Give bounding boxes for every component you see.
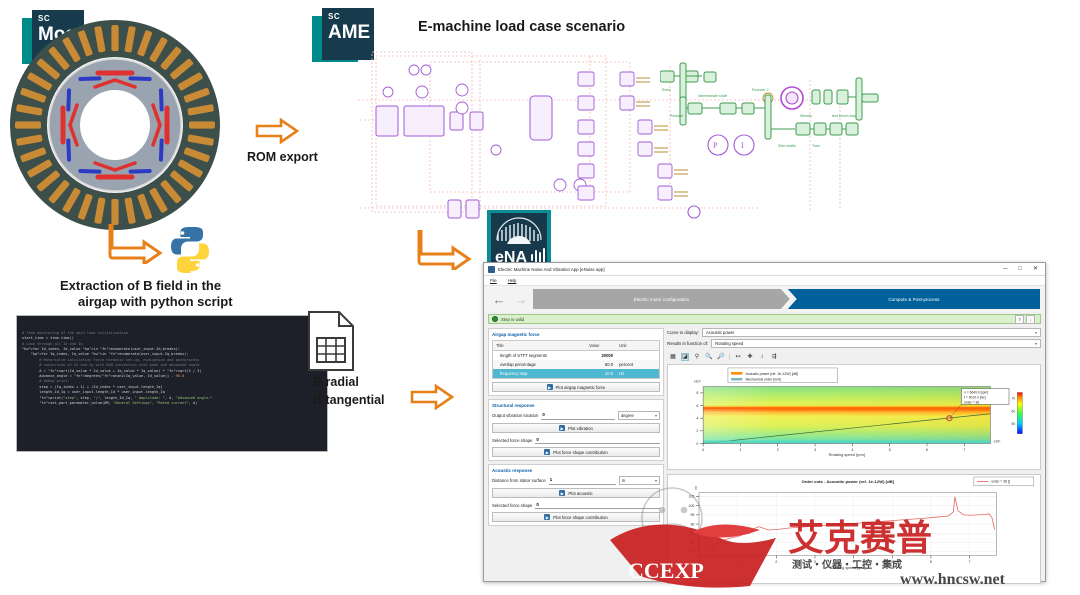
driveline-label-wheels: Wheels: [800, 114, 812, 118]
svg-text:0: 0: [702, 448, 704, 452]
status-text: Step is valid: [501, 317, 524, 322]
selected-force-shape-input[interactable]: [535, 501, 660, 509]
line-chart-y-label: []: [695, 486, 697, 490]
data-table-document-icon: [305, 310, 357, 372]
help-button[interactable]: ?: [1015, 315, 1024, 324]
svg-text:105: 105: [689, 495, 695, 499]
chevron-down-icon: ▾: [655, 413, 657, 418]
structural-selected-force-shape-row: Selected force shape: [492, 436, 660, 444]
acoustic-panel-title: Acoustic response: [492, 468, 660, 473]
menu-bar[interactable]: File Help: [484, 276, 1045, 286]
row-unit: Hz: [616, 369, 659, 379]
results-in-function-of-label: Results in function of:: [667, 341, 708, 346]
acoustic-power-heatmap-chart[interactable]: 0123456702468x10³x10³Rotating speed [rpm…: [667, 364, 1041, 470]
svg-text:70: 70: [1012, 397, 1016, 401]
svg-text:4: 4: [853, 560, 855, 564]
output-vibration-location-input[interactable]: [541, 412, 615, 420]
heatmap-y-exponent: x10³: [694, 380, 702, 384]
results-in-function-of-value: Rotating speed: [715, 341, 743, 346]
driveline-label-rotor: Rotor: [662, 88, 672, 92]
order-cuts-line-chart[interactable]: Order cuts - Acoustic power (ref. 1e-12W…: [667, 474, 1041, 584]
svg-text:4: 4: [696, 417, 698, 421]
driveline-label-test-bench-load: test bench load: [832, 114, 856, 118]
column-header-unit: Unit: [616, 341, 659, 351]
table-row[interactable]: length of STFT segments 30000: [493, 351, 660, 361]
svg-text:8: 8: [696, 391, 698, 395]
svg-text:7: 7: [963, 448, 965, 452]
b-radial-label: B radial: [313, 375, 359, 389]
window-titlebar: Electric Machine Noise And Vibration App…: [484, 263, 1045, 276]
svg-text:1: 1: [737, 560, 739, 564]
b-field-arrow-icon: [410, 384, 454, 410]
line-chart-x-label: Rotating speed [rpm]: [830, 566, 865, 570]
svg-text:2: 2: [696, 429, 698, 433]
enoise-app-window[interactable]: Electric Machine Noise And Vibration App…: [483, 262, 1046, 582]
window-title: Electric Machine Noise And Vibration App…: [498, 267, 1003, 272]
svg-text:0: 0: [698, 560, 700, 564]
plot-force-shape-contribution-button-acoustic[interactable]: ▶ Plot force shape contribution: [492, 512, 660, 522]
svg-text:Mechanical order [null]: Mechanical order [null]: [746, 378, 781, 382]
row-value[interactable]: 10.0: [586, 369, 616, 379]
zoom-in-icon[interactable]: 🔍: [705, 353, 713, 361]
logo-sc-text: SC: [328, 12, 368, 22]
curve-to-display-select[interactable]: Acoustic power ▾: [702, 328, 1041, 337]
selected-force-shape-label: Selected force shape: [492, 503, 532, 508]
column-header-title: Title: [493, 341, 587, 351]
svg-text:2: 2: [777, 448, 779, 452]
chevron-down-icon: ▾: [655, 478, 657, 483]
pan-icon[interactable]: ⚲: [693, 353, 701, 361]
status-bar: Step is valid ? ↓: [488, 314, 1041, 324]
acoustic-response-panel: Acoustic response Distance from stator s…: [488, 464, 664, 526]
structural-response-panel: Structural response Output vibration loc…: [488, 399, 664, 461]
row-value[interactable]: 30000: [586, 351, 616, 361]
python-caption-line1: Extraction of B field in the: [60, 278, 221, 293]
svg-text:5: 5: [889, 448, 891, 452]
rom-export-label: ROM export: [247, 150, 318, 164]
airgap-parameters-table[interactable]: Title Value Unit length of STFT segments…: [492, 340, 660, 379]
app-icon: [488, 266, 495, 273]
svg-text:7: 7: [969, 560, 971, 564]
svg-text:n = 6649.0 [rpm]: n = 6649.0 [rpm]: [964, 391, 988, 395]
row-unit: percent: [616, 360, 659, 369]
plot-icon: ▶: [544, 514, 550, 520]
plot-force-contribution-label: Plot force shape contribution: [553, 450, 607, 455]
motor-cross-section-diagram: [8, 18, 223, 233]
parameters-column: Airgap magnetic force Title Value Unit l…: [488, 328, 664, 587]
chevron-down-icon: ▾: [1035, 341, 1037, 346]
valid-status-icon: [492, 316, 498, 322]
distance-input[interactable]: [549, 477, 616, 485]
driveline-label-reducer2: Reducer 2: [752, 88, 769, 92]
ena-elbow-arrow-icon: [417, 228, 473, 270]
curve-to-display-value: Acoustic power: [706, 330, 734, 335]
acoustic-selected-force-shape-row: Selected force shape: [492, 501, 660, 509]
output-vibration-location-label: Output vibration location: [492, 413, 538, 418]
plot-acoustic-button[interactable]: ▶ Plot acoustic: [492, 488, 660, 498]
svg-text:1: 1: [739, 448, 741, 452]
status-bar-buttons[interactable]: ? ↓: [1015, 315, 1035, 324]
heatmap-legend: Acoustic power (ref. 1e-12W) [dB]Mechani…: [728, 368, 838, 383]
svg-text:3: 3: [814, 448, 816, 452]
plot-icon: ▶: [547, 384, 553, 390]
plot-force-shape-contribution-button-structural[interactable]: ▶ Plot force shape contribution: [492, 447, 660, 457]
svg-text:85: 85: [690, 532, 694, 536]
selected-force-shape-label: Selected force shape: [492, 438, 532, 443]
back-arrow-icon[interactable]: ←: [489, 289, 509, 309]
distance-label: Distance from stator surface: [492, 478, 546, 483]
output-vibration-location-row: Output vibration location degree ▾: [492, 411, 660, 420]
svg-text:4: 4: [851, 448, 853, 452]
distance-unit-value: m: [622, 478, 625, 483]
row-value[interactable]: 80.0: [586, 360, 616, 369]
airgap-panel-title: Airgap magnetic force: [492, 332, 660, 337]
b-tangential-label: B tangential: [313, 393, 385, 407]
cursor-v-icon[interactable]: ↤: [734, 353, 742, 361]
airgap-magnetic-force-panel: Airgap magnetic force Title Value Unit l…: [488, 328, 664, 396]
svg-text:80: 80: [690, 541, 694, 545]
svg-text:6: 6: [930, 560, 932, 564]
svg-text:f = 4010.0 [Hz]: f = 4010.0 [Hz]: [964, 395, 986, 399]
plot-force-contribution-label: Plot force shape contribution: [553, 515, 607, 520]
collapse-button[interactable]: ↓: [1026, 315, 1035, 324]
svg-text:order = 36: order = 36: [964, 400, 979, 404]
python-elbow-arrow-icon: [108, 222, 164, 264]
app-content-area: Airgap magnetic force Title Value Unit l…: [484, 326, 1045, 591]
selected-force-shape-input[interactable]: [535, 436, 660, 444]
maximize-button[interactable]: □: [1018, 266, 1022, 272]
chevron-down-icon: ▾: [1035, 330, 1037, 335]
driveline-label-intermediate-shaft: Intermediate shaft: [698, 94, 727, 98]
python-caption-line2: airgap with python script: [78, 294, 233, 309]
python-logo-icon: [166, 225, 214, 273]
svg-text:5: 5: [891, 560, 893, 564]
forward-arrow-icon[interactable]: →: [511, 289, 531, 309]
column-header-value: Value: [586, 341, 616, 351]
grid-icon[interactable]: ▦: [669, 353, 677, 361]
svg-text:6: 6: [926, 448, 928, 452]
plot-vibration-button[interactable]: ▶ Plot vibration: [492, 423, 660, 433]
svg-text:90: 90: [690, 522, 694, 526]
row-unit: [616, 351, 659, 361]
row-title: length of STFT segments: [493, 351, 587, 361]
curve-to-display-row: Curve to display: Acoustic power ▾: [667, 328, 1041, 337]
svg-text:100: 100: [689, 504, 695, 508]
heatmap-x-exponent: x10³: [994, 440, 1002, 444]
results-column: Curve to display: Acoustic power ▾ Resul…: [667, 328, 1041, 587]
cursor-delta-icon[interactable]: ⇶: [770, 353, 778, 361]
cursor-cross-icon[interactable]: ✚: [746, 353, 754, 361]
svg-text:0: 0: [696, 442, 698, 446]
curve-to-display-label: Curve to display:: [667, 330, 699, 335]
heatmap-x-axis-label: Rotating speed [rpm]: [829, 453, 865, 457]
rom-export-arrow-icon: [255, 118, 299, 144]
svg-text:2: 2: [775, 560, 777, 564]
driveline-label-side-shafts: Side shafts: [778, 144, 796, 148]
svg-text:95: 95: [690, 513, 694, 517]
svg-text:75: 75: [690, 550, 694, 554]
plot-toolbar[interactable]: ▦ ◪ ⚲ 🔍 🔎 ↤ ✚ ↕ ⇶: [667, 351, 1041, 362]
line-chart-legend: order = 36 []: [974, 477, 1034, 486]
wizard-navigation-bar[interactable]: ← → Electric motor configuration Compute…: [484, 286, 1045, 312]
table-header-row: Title Value Unit: [493, 341, 660, 351]
plot-icon: ▶: [559, 490, 565, 496]
plot-vibration-label: Plot vibration: [568, 426, 593, 431]
plot-icon: ▶: [559, 425, 565, 431]
plot-acoustic-label: Plot acoustic: [568, 491, 592, 496]
heatmap-colorbar: 706050: [1012, 392, 1023, 433]
minimize-button[interactable]: ─: [1003, 266, 1007, 272]
row-title: frequency step: [493, 369, 587, 379]
pointer-icon[interactable]: ◪: [681, 353, 689, 361]
step-electric-motor-configuration[interactable]: Electric motor configuration: [533, 289, 790, 309]
distance-unit-select[interactable]: m ▾: [619, 476, 660, 485]
close-button[interactable]: ✕: [1033, 266, 1038, 272]
svg-text:order = 36 []: order = 36 []: [991, 480, 1009, 484]
svg-text:3: 3: [814, 560, 816, 564]
table-row[interactable]: frequency step 10.0 Hz: [493, 369, 660, 379]
menu-item-help[interactable]: Help: [508, 278, 517, 283]
toolbar-separator: [729, 353, 730, 360]
driveline-sketch: Rotor Reducer 1 Intermediate shaft Reduc…: [660, 55, 860, 165]
svg-text:50: 50: [1012, 422, 1016, 426]
plot-airgap-label: Plot airgap magnetic force: [556, 385, 606, 390]
window-controls[interactable]: ─ □ ✕: [1003, 266, 1041, 272]
scenario-title: E-machine load case scenario: [418, 19, 625, 35]
line-chart-title: Order cuts - Acoustic power (ref. 1e-12W…: [801, 479, 894, 484]
svg-text:60: 60: [1012, 409, 1016, 413]
row-title: overlap percentage: [493, 360, 587, 369]
distance-from-stator-surface-row: Distance from stator surface m ▾: [492, 476, 660, 485]
cursor-dual-icon[interactable]: ↕: [758, 353, 766, 361]
step-compute-and-post-process[interactable]: Compute & Post-process: [788, 289, 1040, 309]
menu-item-file[interactable]: File: [490, 278, 497, 283]
vibration-unit-value: degree: [621, 413, 634, 418]
results-in-function-of-row: Results in function of: Rotating speed ▾: [667, 339, 1041, 348]
svg-text:6: 6: [696, 404, 698, 408]
vibration-unit-select[interactable]: degree ▾: [618, 411, 660, 420]
structural-panel-title: Structural response: [492, 403, 660, 408]
python-code-block: # Time monitoring of the main loop initi…: [16, 315, 328, 452]
zoom-out-icon[interactable]: 🔎: [717, 353, 725, 361]
svg-text:Acoustic power (ref. 1e-12W) [: Acoustic power (ref. 1e-12W) [dB]: [746, 372, 798, 376]
driveline-label-reducer1: Reducer 1: [670, 114, 687, 118]
plot-airgap-magnetic-force-button[interactable]: ▶ Plot airgap magnetic force: [492, 382, 660, 392]
driveline-label-tires: Tires: [812, 144, 820, 148]
plot-icon: ▶: [544, 449, 550, 455]
table-row[interactable]: overlap percentage 80.0 percent: [493, 360, 660, 369]
results-in-function-of-select[interactable]: Rotating speed ▾: [711, 339, 1041, 348]
